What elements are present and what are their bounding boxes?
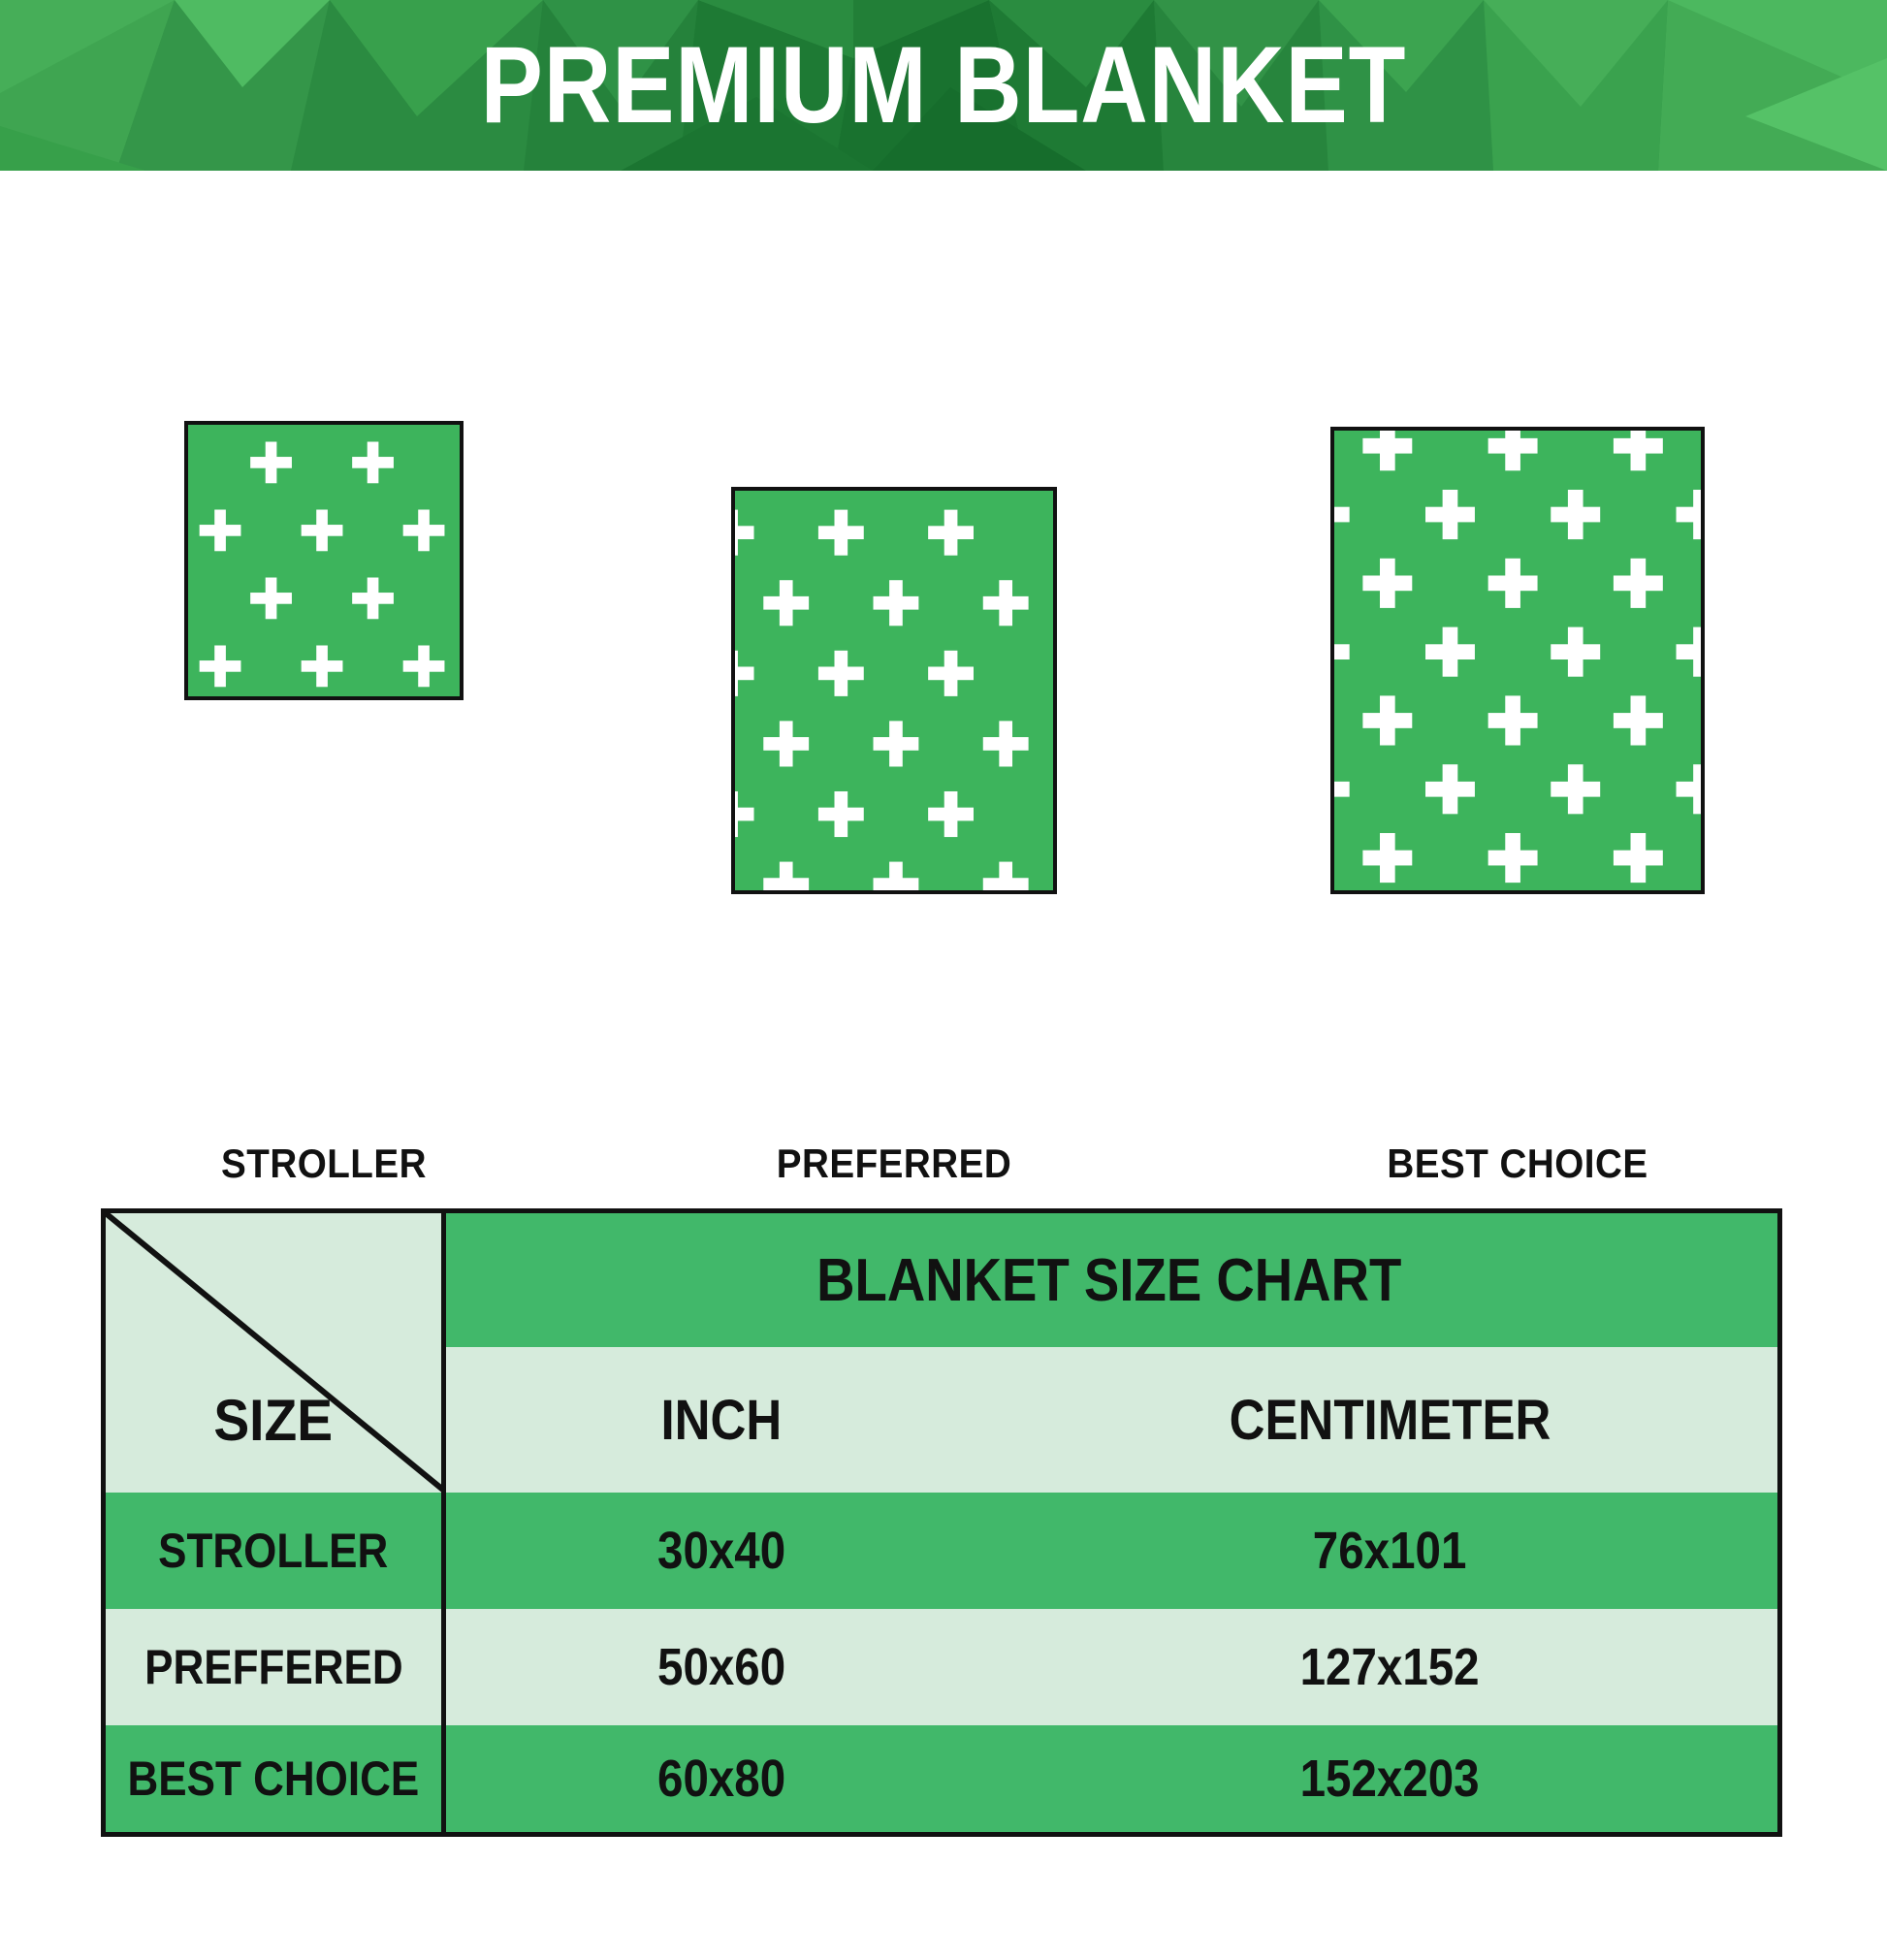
- table-column-divider: [441, 1213, 446, 1832]
- table-row[interactable]: BEST CHOICE 60x80 152x203: [106, 1725, 1777, 1832]
- column-header-centimeter-cell: CENTIMETER: [1003, 1388, 1777, 1453]
- table-row[interactable]: PREFFERED 50x60 127x152: [106, 1609, 1777, 1725]
- swatch-label-preferred: PREFERRED: [744, 1141, 1043, 1187]
- table-cell-inch: 30x40: [441, 1521, 1003, 1581]
- swatch-label-stroller: STROLLER: [196, 1141, 453, 1187]
- table-cell-inch: 60x80: [441, 1749, 1003, 1809]
- table-corner-size-label-wrap: SIZE: [106, 1347, 441, 1493]
- column-header-inch-cell: INCH: [441, 1388, 1003, 1453]
- table-cell-inch: 50x60: [441, 1637, 1003, 1697]
- value-cm-best-choice: 152x203: [1300, 1749, 1480, 1809]
- table-title-cell: BLANKET SIZE CHART: [441, 1213, 1777, 1347]
- table-corner-size-label: SIZE: [214, 1387, 334, 1454]
- value-cm-preffered: 127x152: [1300, 1637, 1480, 1697]
- table-row[interactable]: STROLLER 30x40 76x101: [106, 1493, 1777, 1609]
- blanket-swatch-row: STROLLER 30” x 40”: [0, 171, 1887, 1092]
- header-banner: PREMIUM BLANKET: [0, 0, 1887, 171]
- blanket-swatch-best-choice[interactable]: [1330, 427, 1705, 894]
- page-title: PREMIUM BLANKET: [132, 0, 1755, 171]
- value-inch-stroller: 30x40: [657, 1521, 785, 1581]
- value-cm-stroller: 76x101: [1313, 1521, 1467, 1581]
- blanket-swatch-preferred[interactable]: [731, 487, 1057, 894]
- table-cell-centimeter: 76x101: [1003, 1521, 1777, 1581]
- table-units-header-cell: INCH CENTIMETER: [441, 1347, 1777, 1493]
- value-inch-best-choice: 60x80: [657, 1749, 785, 1809]
- table-corner-cell: [106, 1213, 441, 1347]
- plus-cross-pattern-icon: [735, 491, 1053, 890]
- table-row-values: 50x60 127x152: [441, 1609, 1777, 1725]
- table-cell-size: BEST CHOICE: [106, 1725, 441, 1832]
- table-cell-centimeter: 152x203: [1003, 1749, 1777, 1809]
- row-label-preffered: PREFFERED: [144, 1639, 402, 1695]
- swatch-label-best-choice: BEST CHOICE: [1345, 1141, 1689, 1187]
- table-cell-centimeter: 127x152: [1003, 1637, 1777, 1697]
- table-cell-size: STROLLER: [106, 1493, 441, 1609]
- table-row-values: 60x80 152x203: [441, 1725, 1777, 1832]
- blanket-size-table: BLANKET SIZE CHART INCH CENTIMETER SIZE …: [101, 1208, 1782, 1837]
- row-label-best-choice: BEST CHOICE: [128, 1751, 420, 1807]
- column-header-inch: INCH: [661, 1388, 783, 1453]
- table-cell-size: PREFFERED: [106, 1609, 441, 1725]
- plus-cross-pattern-icon: [188, 425, 460, 696]
- blanket-swatch-stroller[interactable]: [184, 421, 464, 700]
- table-title-row: BLANKET SIZE CHART: [106, 1213, 1777, 1347]
- plus-cross-pattern-icon: [1334, 431, 1701, 890]
- row-label-stroller: STROLLER: [158, 1523, 388, 1579]
- table-title: BLANKET SIZE CHART: [816, 1246, 1401, 1315]
- column-header-centimeter: CENTIMETER: [1229, 1388, 1551, 1453]
- value-inch-preffered: 50x60: [657, 1637, 785, 1697]
- table-row-values: 30x40 76x101: [441, 1493, 1777, 1609]
